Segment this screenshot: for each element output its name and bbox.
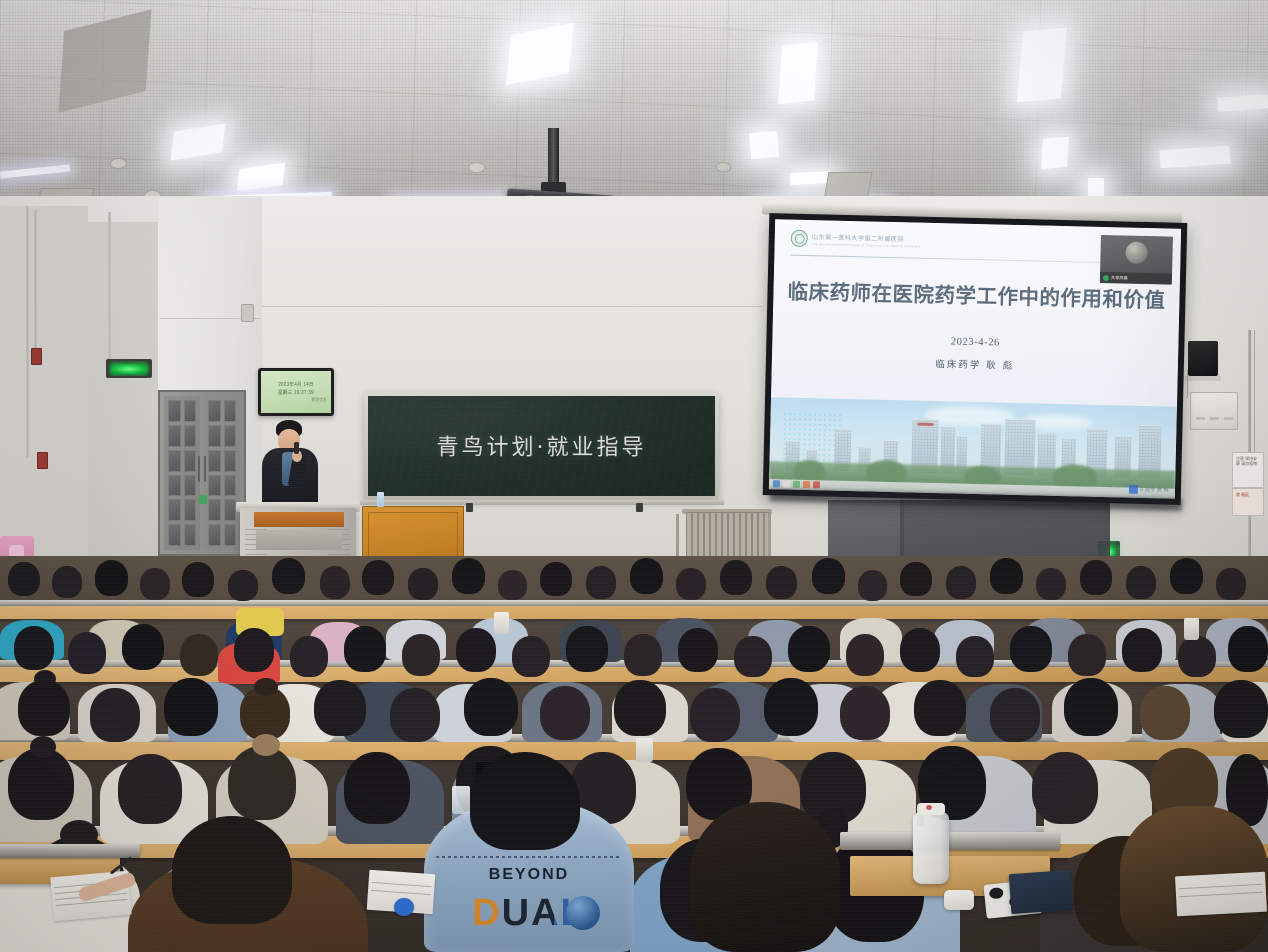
person-head bbox=[1214, 680, 1268, 738]
person-head bbox=[14, 626, 54, 670]
person-head bbox=[344, 626, 386, 672]
person-head bbox=[1036, 568, 1066, 600]
blackboard: 青鸟计划·就业指导 bbox=[364, 392, 719, 500]
person-head bbox=[498, 570, 527, 600]
person-head bbox=[452, 558, 485, 594]
hair-bun bbox=[34, 670, 56, 688]
person-head bbox=[1032, 752, 1098, 824]
info-display-lcd: 2023年4月 14日 星期三 16:27:39 教室信息 bbox=[261, 371, 331, 413]
person-head bbox=[614, 680, 666, 736]
wall-notice-sign: 注意 保持安静 请勿喧哗 bbox=[1232, 452, 1264, 488]
person-head bbox=[172, 816, 292, 924]
share-label: 共享屏幕 bbox=[1111, 275, 1128, 281]
ceiling-light-panel bbox=[1041, 137, 1069, 170]
person-head bbox=[1126, 566, 1156, 599]
wall-conduit bbox=[34, 210, 37, 350]
person-head bbox=[566, 626, 608, 672]
projector-mount-rod bbox=[548, 128, 559, 190]
presentation-slide: 山东第一医科大学第二附属医院 The Second Affiliated Hos… bbox=[769, 219, 1181, 498]
person-head bbox=[812, 558, 845, 594]
person-head bbox=[118, 754, 182, 824]
cup bbox=[636, 738, 653, 762]
cup bbox=[1184, 618, 1199, 640]
door-pane bbox=[208, 475, 221, 497]
person-head bbox=[540, 686, 590, 740]
desk-rail bbox=[0, 844, 140, 858]
door-pane bbox=[224, 475, 237, 497]
person-head bbox=[624, 634, 662, 676]
taskbar-icon bbox=[783, 481, 790, 488]
person-head bbox=[344, 752, 410, 824]
person-head bbox=[8, 562, 40, 596]
door-pane bbox=[184, 475, 197, 497]
person-head bbox=[228, 746, 296, 820]
desk-rail bbox=[840, 832, 1060, 850]
wall-seam bbox=[262, 306, 762, 307]
person-head bbox=[858, 570, 887, 601]
ceiling-light-panel bbox=[749, 131, 779, 159]
person-head bbox=[788, 626, 830, 672]
hair-bun bbox=[30, 736, 56, 758]
tray-clip bbox=[636, 503, 643, 512]
slide-date: 2023-4-26 bbox=[772, 332, 1178, 353]
door-pane bbox=[208, 400, 221, 422]
hospital-seal-icon bbox=[791, 230, 808, 247]
slide-author: 临床药学 耿 彪 bbox=[772, 352, 1178, 376]
earbuds-case bbox=[944, 890, 974, 910]
person-head bbox=[956, 636, 994, 677]
desk-row bbox=[0, 606, 1268, 619]
door-pane bbox=[168, 425, 181, 447]
person-head bbox=[1216, 568, 1246, 600]
hair-bun bbox=[254, 678, 278, 696]
door-pane bbox=[208, 499, 221, 521]
door-pane bbox=[208, 425, 221, 447]
water-bottle-small bbox=[377, 492, 384, 507]
wall-notice-text: 注意 保持安静 请勿喧哗 bbox=[1233, 453, 1263, 469]
paper-line bbox=[1179, 892, 1263, 897]
ceiling-light-panel bbox=[778, 42, 818, 105]
projection-screen[interactable]: 山东第一医科大学第二附属医院 The Second Affiliated Hos… bbox=[763, 213, 1188, 505]
taskbar-icon bbox=[803, 481, 810, 488]
person-head bbox=[540, 562, 572, 596]
door-pane bbox=[224, 400, 237, 422]
microphone-icon bbox=[294, 442, 299, 454]
person-head bbox=[68, 632, 106, 674]
water-bottle bbox=[913, 812, 949, 884]
exit-sign-icon bbox=[106, 359, 152, 378]
person-head bbox=[1228, 626, 1268, 672]
person-head bbox=[402, 634, 440, 676]
info-line-3: 教室信息 bbox=[311, 397, 327, 403]
cup bbox=[452, 786, 470, 814]
person-head bbox=[946, 566, 976, 599]
person-head bbox=[1010, 626, 1052, 672]
taskbar-icon bbox=[773, 480, 780, 487]
thumbnail-status-bar: 共享屏幕 bbox=[1100, 272, 1172, 285]
wall-cable bbox=[1187, 370, 1188, 398]
classroom-info-display[interactable]: 2023年4月 14日 星期三 16:27:39 教室信息 bbox=[258, 368, 334, 416]
person-head bbox=[464, 678, 518, 736]
ceiling-light-panel bbox=[790, 171, 831, 185]
person-head bbox=[1178, 636, 1216, 677]
door-pane bbox=[184, 400, 197, 422]
person-head bbox=[846, 634, 884, 676]
person-head bbox=[990, 688, 1040, 742]
person-head bbox=[95, 560, 128, 596]
wall-speaker bbox=[1188, 341, 1218, 376]
person-head bbox=[362, 560, 394, 595]
person-head bbox=[314, 680, 366, 736]
tree bbox=[866, 459, 907, 484]
door-pane bbox=[168, 400, 181, 422]
person-head bbox=[52, 566, 82, 598]
person-head bbox=[630, 558, 663, 594]
tray-clip bbox=[466, 503, 473, 512]
paper-line bbox=[1179, 884, 1263, 889]
person-head bbox=[512, 636, 550, 677]
door-pane bbox=[184, 524, 197, 546]
door-leaf-right[interactable] bbox=[204, 396, 240, 550]
door-pane bbox=[168, 475, 181, 497]
exit-sign-glow bbox=[111, 364, 147, 374]
person-head bbox=[900, 628, 940, 672]
door-pane bbox=[224, 499, 237, 521]
projection-screen-surface: 山东第一医科大学第二附属医院 The Second Affiliated Hos… bbox=[769, 219, 1181, 498]
slide-city-photo: S 医学 资 料 bbox=[769, 397, 1177, 498]
paper-line bbox=[371, 890, 431, 895]
cow-spot bbox=[989, 887, 1004, 899]
door-handle[interactable] bbox=[204, 456, 206, 482]
person-head bbox=[1122, 628, 1162, 672]
person-head bbox=[390, 688, 440, 742]
door-leaf-left[interactable] bbox=[164, 396, 200, 550]
person-head bbox=[408, 568, 438, 600]
door-pane bbox=[184, 450, 197, 472]
bottle-cap bbox=[917, 803, 945, 815]
person-head bbox=[1140, 686, 1190, 740]
notebook bbox=[1009, 870, 1074, 914]
radiator-pipe bbox=[676, 514, 679, 562]
person-head bbox=[1068, 634, 1106, 676]
os-taskbar-icons bbox=[773, 480, 820, 488]
smoke-detector bbox=[110, 158, 127, 169]
person-head bbox=[164, 678, 218, 736]
ceiling-light-panel bbox=[1017, 28, 1067, 103]
slide-upper-half: 山东第一医科大学第二附属医院 The Second Affiliated Hos… bbox=[771, 219, 1181, 407]
person-head bbox=[470, 752, 580, 850]
jacket-globe-icon bbox=[566, 896, 600, 930]
person-head bbox=[122, 624, 164, 670]
thumbnail-globe-icon bbox=[1125, 242, 1148, 265]
door-pane bbox=[224, 450, 237, 472]
person-head bbox=[228, 570, 258, 601]
control-box-slot bbox=[1210, 417, 1219, 420]
person-head bbox=[1170, 558, 1203, 594]
door-pane bbox=[208, 524, 221, 546]
door-pane bbox=[224, 524, 237, 546]
audience-area: BEYOND DUAL bbox=[0, 556, 1268, 952]
share-active-icon bbox=[1103, 274, 1109, 280]
entrance-door[interactable] bbox=[158, 390, 246, 556]
person-head bbox=[676, 568, 706, 600]
person-head bbox=[586, 566, 616, 599]
person-head bbox=[90, 688, 140, 742]
lectern-wood-band bbox=[254, 512, 344, 527]
screen-share-thumbnail[interactable]: 共享屏幕 bbox=[1100, 235, 1173, 285]
door-handle[interactable] bbox=[198, 456, 200, 482]
person-head bbox=[272, 558, 305, 594]
person-head bbox=[690, 802, 840, 952]
door-pane bbox=[184, 425, 197, 447]
jacket-text-bottom: DUAL bbox=[424, 892, 634, 935]
radiator-pipe bbox=[768, 514, 771, 562]
paper-line bbox=[372, 882, 432, 887]
person-head bbox=[678, 628, 718, 672]
speaker-bracket bbox=[1185, 376, 1221, 381]
person-head bbox=[320, 566, 350, 599]
person-head bbox=[182, 562, 214, 597]
door-pane bbox=[224, 425, 237, 447]
blackboard-text: 青鸟计划·就业指导 bbox=[368, 429, 715, 461]
jacket-seam bbox=[436, 856, 622, 858]
door-pane bbox=[184, 499, 197, 521]
lecture-hall-photo: 2023年4月 14日 星期三 16:27:39 教室信息 青鸟计划·就业指导 … bbox=[0, 0, 1268, 952]
door-pane bbox=[208, 450, 221, 472]
person-head bbox=[234, 628, 274, 672]
info-line-1: 2023年4月 14日 bbox=[278, 381, 314, 388]
door-sticker-icon bbox=[199, 495, 207, 504]
slide-watermark: S 医学 资 料 bbox=[1129, 485, 1169, 495]
person-head bbox=[18, 680, 70, 736]
person-head bbox=[914, 680, 966, 736]
taskbar-icon bbox=[813, 481, 820, 488]
wall-control-box[interactable] bbox=[1190, 392, 1238, 430]
lectern-control-panel[interactable] bbox=[256, 530, 342, 550]
emergency-button[interactable] bbox=[31, 348, 42, 365]
person-head bbox=[720, 560, 752, 595]
control-box-slot bbox=[1196, 417, 1205, 420]
blue-object bbox=[394, 898, 414, 916]
person-head bbox=[764, 678, 818, 736]
chalk-tray bbox=[360, 500, 724, 505]
wall-warning-sign: 禁 烟区 bbox=[1232, 488, 1264, 516]
person-head bbox=[840, 686, 890, 740]
watermark-icon bbox=[1129, 485, 1138, 494]
hair-bun bbox=[252, 734, 280, 756]
door-pane bbox=[168, 450, 181, 472]
watermark-text: S 医学 资 料 bbox=[1140, 486, 1169, 494]
person-head bbox=[990, 558, 1023, 594]
info-line-2: 星期三 16:27:39 bbox=[278, 389, 314, 396]
door-pane bbox=[168, 524, 181, 546]
jacket-text-top: BEYOND bbox=[424, 866, 634, 884]
tree bbox=[1053, 464, 1098, 489]
wall-sensor bbox=[241, 304, 254, 322]
blackboard-surface: 青鸟计划·就业指导 bbox=[368, 396, 715, 496]
hospital-logo-text: 山东第一医科大学第二附属医院 The Second Affiliated Hos… bbox=[812, 232, 921, 249]
ceiling-light-panel bbox=[1088, 178, 1104, 196]
person-head bbox=[900, 562, 932, 596]
paper-line bbox=[56, 899, 128, 906]
hospital-logo: 山东第一医科大学第二附属医院 The Second Affiliated Hos… bbox=[791, 230, 921, 250]
person-head bbox=[734, 636, 772, 677]
emergency-button[interactable] bbox=[37, 452, 48, 469]
wall-conduit bbox=[108, 212, 111, 360]
door-pane bbox=[168, 499, 181, 521]
person-head bbox=[180, 634, 218, 676]
taskbar-icon bbox=[793, 481, 800, 488]
person-head bbox=[8, 748, 74, 820]
person-head bbox=[766, 566, 797, 599]
person-head bbox=[140, 568, 170, 600]
wall-warning-text: 禁 烟区 bbox=[1233, 489, 1263, 500]
person-head bbox=[1080, 560, 1112, 595]
person-head bbox=[290, 636, 328, 677]
handout-paper bbox=[1175, 872, 1267, 917]
person-head bbox=[690, 688, 740, 742]
cup bbox=[494, 612, 509, 634]
person-head bbox=[1064, 678, 1118, 736]
person-head bbox=[456, 628, 496, 672]
ceiling-speaker bbox=[716, 162, 731, 172]
wall-conduit bbox=[26, 206, 29, 458]
control-box-slot bbox=[1224, 417, 1233, 420]
smoke-detector bbox=[468, 162, 485, 173]
